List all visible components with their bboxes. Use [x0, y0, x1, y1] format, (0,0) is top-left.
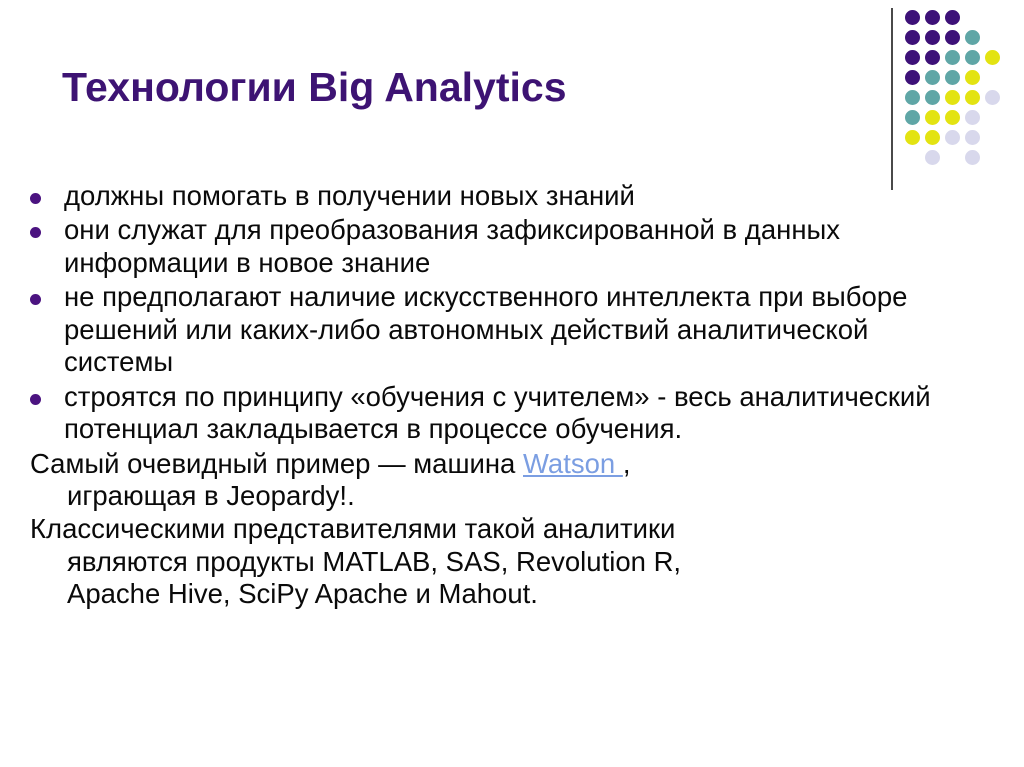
list-item: должны помогать в получении новых знаний [0, 180, 1024, 212]
vertical-divider-rule [891, 8, 893, 190]
list-item-label: не предполагают наличие искусственного и… [64, 281, 994, 378]
decorative-dot [905, 30, 920, 45]
decorative-dot [905, 10, 920, 25]
list-item: они служат для преобразования зафиксиров… [0, 214, 1024, 279]
paragraph-watson: Самый очевидный пример — машина Watson ,… [0, 448, 1024, 513]
decorative-dot [965, 150, 980, 165]
decorative-dot [925, 70, 940, 85]
decorative-dot [965, 90, 980, 105]
bullet-dot-icon [30, 180, 64, 204]
decorative-dot [945, 110, 960, 125]
list-item: не предполагают наличие искусственного и… [0, 281, 1024, 378]
decorative-dot [905, 130, 920, 145]
decorative-dot [905, 70, 920, 85]
decorative-dot [945, 70, 960, 85]
list-item-label: должны помогать в получении новых знаний [64, 180, 994, 212]
paragraph-text: Классическими представителями такой анал… [30, 513, 994, 610]
slide-body: должны помогать в получении новых знаний… [0, 180, 1024, 612]
decorative-dot [925, 30, 940, 45]
decorative-dot [925, 50, 940, 65]
paragraph-text: Самый очевидный пример — машина Watson ,… [30, 448, 994, 513]
decorative-dot [905, 110, 920, 125]
decorative-dot [945, 130, 960, 145]
decorative-dot [925, 10, 940, 25]
decorative-dot [925, 150, 940, 165]
decorative-dot [945, 10, 960, 25]
decorative-dot [905, 90, 920, 105]
dot-grid-graphic [905, 10, 1015, 180]
decorative-dot [965, 110, 980, 125]
decorative-dot [985, 90, 1000, 105]
paragraph-lead: Классическими представителями такой анал… [30, 513, 675, 544]
decorative-dot [945, 30, 960, 45]
decorative-dot [925, 110, 940, 125]
page-title: Технологии Big Analytics [62, 65, 862, 110]
list-item: строятся по принципу «обучения с учителе… [0, 381, 1024, 446]
paragraph-classics: Классическими представителями такой анал… [0, 513, 1024, 610]
watson-link[interactable]: Watson [523, 448, 623, 479]
paragraph-lead: Самый очевидный пример — машина [30, 448, 523, 479]
decorative-dot [905, 50, 920, 65]
list-item-label: строятся по принципу «обучения с учителе… [64, 381, 994, 446]
decorative-dot [945, 50, 960, 65]
paragraph-continuation-2: Apache Hive, SciPy Apache и Mahout. [30, 578, 814, 610]
decorative-dot [925, 130, 940, 145]
paragraph-continuation: являются продукты MATLAB, SAS, Revolutio… [30, 546, 814, 578]
decorative-dot-panel [880, 0, 1024, 200]
decorative-dot [965, 70, 980, 85]
decorative-dot [965, 50, 980, 65]
decorative-dot [945, 90, 960, 105]
decorative-dot [965, 30, 980, 45]
bullet-dot-icon [30, 281, 64, 305]
decorative-dot [965, 130, 980, 145]
decorative-dot [985, 50, 1000, 65]
bullet-dot-icon [30, 381, 64, 405]
list-item-label: они служат для преобразования зафиксиров… [64, 214, 994, 279]
paragraph-trailing: , [623, 448, 631, 479]
paragraph-continuation: играющая в Jeopardy!. [30, 480, 814, 512]
bullet-dot-icon [30, 214, 64, 238]
slide-canvas: Технологии Big Analytics должны помогать… [0, 0, 1024, 767]
decorative-dot [925, 90, 940, 105]
